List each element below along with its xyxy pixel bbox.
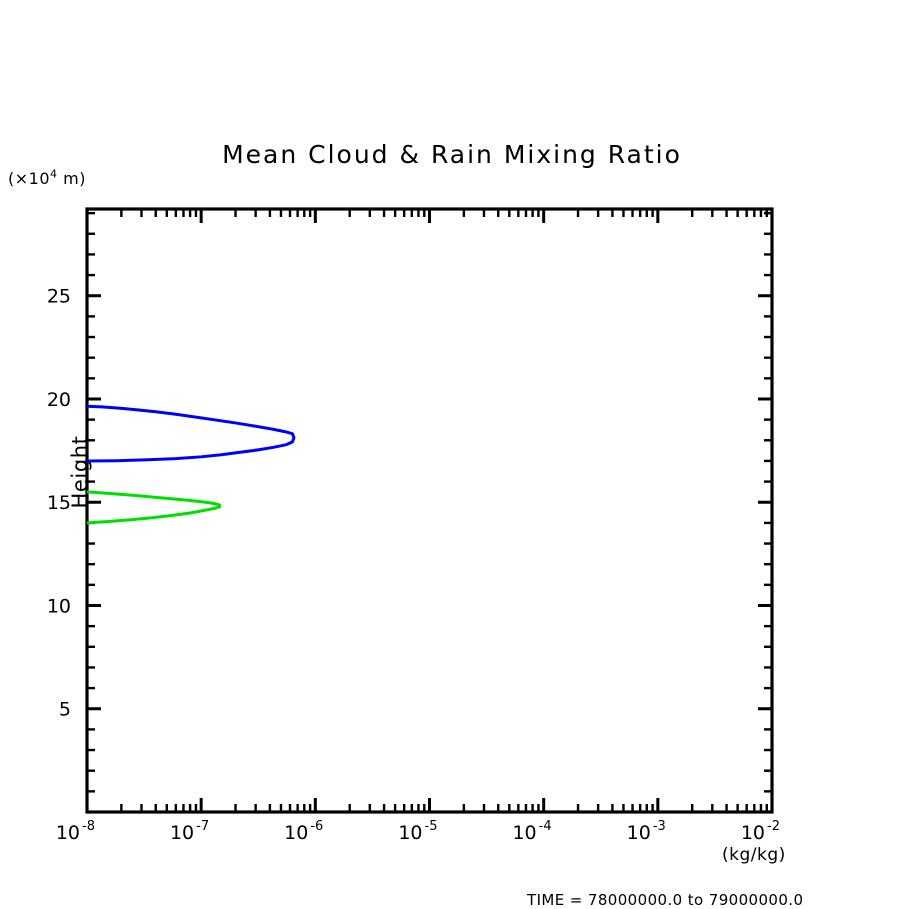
svg-text:15: 15: [47, 492, 71, 514]
svg-text:-8: -8: [82, 819, 95, 834]
svg-text:10: 10: [170, 822, 194, 844]
svg-text:-7: -7: [196, 819, 209, 834]
svg-text:10: 10: [284, 822, 308, 844]
svg-text:10: 10: [627, 822, 651, 844]
svg-text:25: 25: [47, 286, 71, 308]
svg-text:-4: -4: [539, 819, 552, 834]
y-axis-tick-labels: 510152025: [47, 286, 71, 721]
plot-canvas: 10-810-710-610-510-410-310-2 510152025: [0, 0, 904, 904]
svg-text:20: 20: [47, 389, 71, 411]
axis-frame: [87, 209, 772, 812]
plot-figure: Mean Cloud & Rain Mixing Ratio (×104 m) …: [0, 0, 904, 904]
svg-text:10: 10: [741, 822, 765, 844]
x-axis-ticks: [87, 209, 772, 812]
svg-text:10: 10: [398, 822, 422, 844]
svg-text:-3: -3: [653, 819, 666, 834]
svg-text:-2: -2: [767, 819, 780, 834]
svg-text:-5: -5: [425, 819, 438, 834]
svg-text:5: 5: [59, 699, 71, 721]
svg-text:10: 10: [47, 595, 71, 617]
svg-text:10: 10: [512, 822, 536, 844]
data-series-layer: [87, 406, 294, 523]
svg-text:10: 10: [56, 822, 80, 844]
svg-text:-6: -6: [310, 819, 323, 834]
y-axis-ticks: [87, 213, 772, 791]
x-axis-tick-labels: 10-810-710-610-510-410-310-2: [56, 819, 780, 844]
